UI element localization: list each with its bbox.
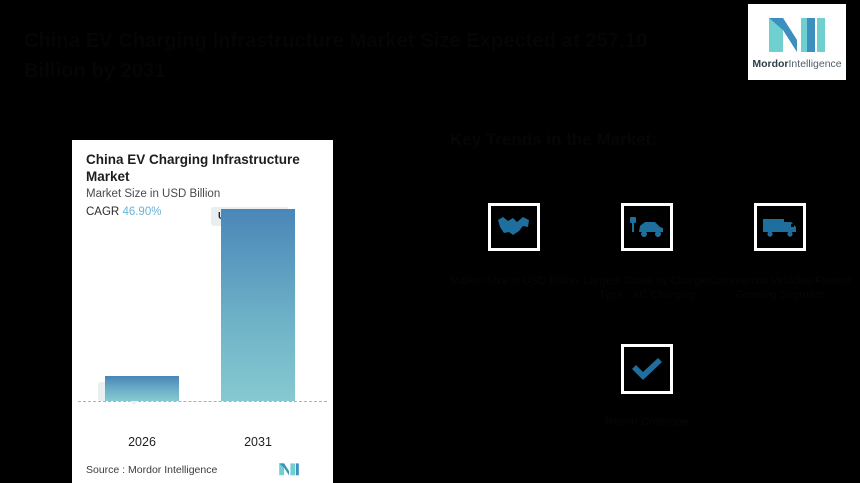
x-tick-label-2031: 2031: [221, 435, 295, 449]
trend-caption-3: Commercial Vehicles Fastest Growing Segm…: [705, 274, 855, 302]
chart-baseline: [78, 401, 327, 402]
map-region-icon: [497, 214, 531, 240]
trend-icon-frame-2: [621, 203, 673, 251]
trends-heading: Key Trends in the Market:: [450, 130, 840, 150]
logo-wordmark: MordorIntelligence: [752, 58, 841, 70]
x-tick-label-2026: 2026: [105, 435, 179, 449]
mordor-m-i-mark-icon: [767, 14, 827, 54]
bar-2031: [221, 209, 295, 401]
trend-caption-1: Market Size in USD Billion: [439, 274, 589, 288]
mordor-intelligence-logo: MordorIntelligence: [748, 4, 846, 80]
page-title: China EV Charging Infrastructure Market …: [24, 26, 724, 86]
bar-2026: [105, 376, 179, 401]
infographic-page: China EV Charging Infrastructure Market …: [0, 0, 860, 483]
trend-icon-frame-3: [754, 203, 806, 251]
bar-chart-plot: USD 37.61 B USD 257.10 B 2026 2031: [72, 140, 333, 483]
page-title-line-2: Billion by 2031: [24, 56, 724, 86]
chart-card: China EV Charging Infrastructure Market …: [72, 140, 333, 483]
trend-caption-2: Largest Share by Charger Type - AC Charg…: [572, 274, 722, 302]
trend-icon-frame-4: [621, 344, 673, 394]
trend-icon-frame-1: [488, 203, 540, 251]
mordor-mark-small-icon: [278, 462, 300, 476]
trend-caption-4: Report Coverage: [572, 415, 722, 429]
delivery-truck-icon: [762, 215, 798, 239]
bar-fill-2026: [105, 376, 179, 401]
checkmark-icon: [630, 355, 664, 383]
bar-fill-2031: [221, 209, 295, 401]
logo-name-bold: Mordor: [752, 58, 788, 70]
page-title-line-1: China EV Charging Infrastructure Market …: [24, 30, 647, 52]
logo-name-regular: Intelligence: [789, 58, 842, 70]
chart-source: Source : Mordor Intelligence: [86, 464, 217, 476]
ev-car-charging-icon: [628, 214, 666, 240]
